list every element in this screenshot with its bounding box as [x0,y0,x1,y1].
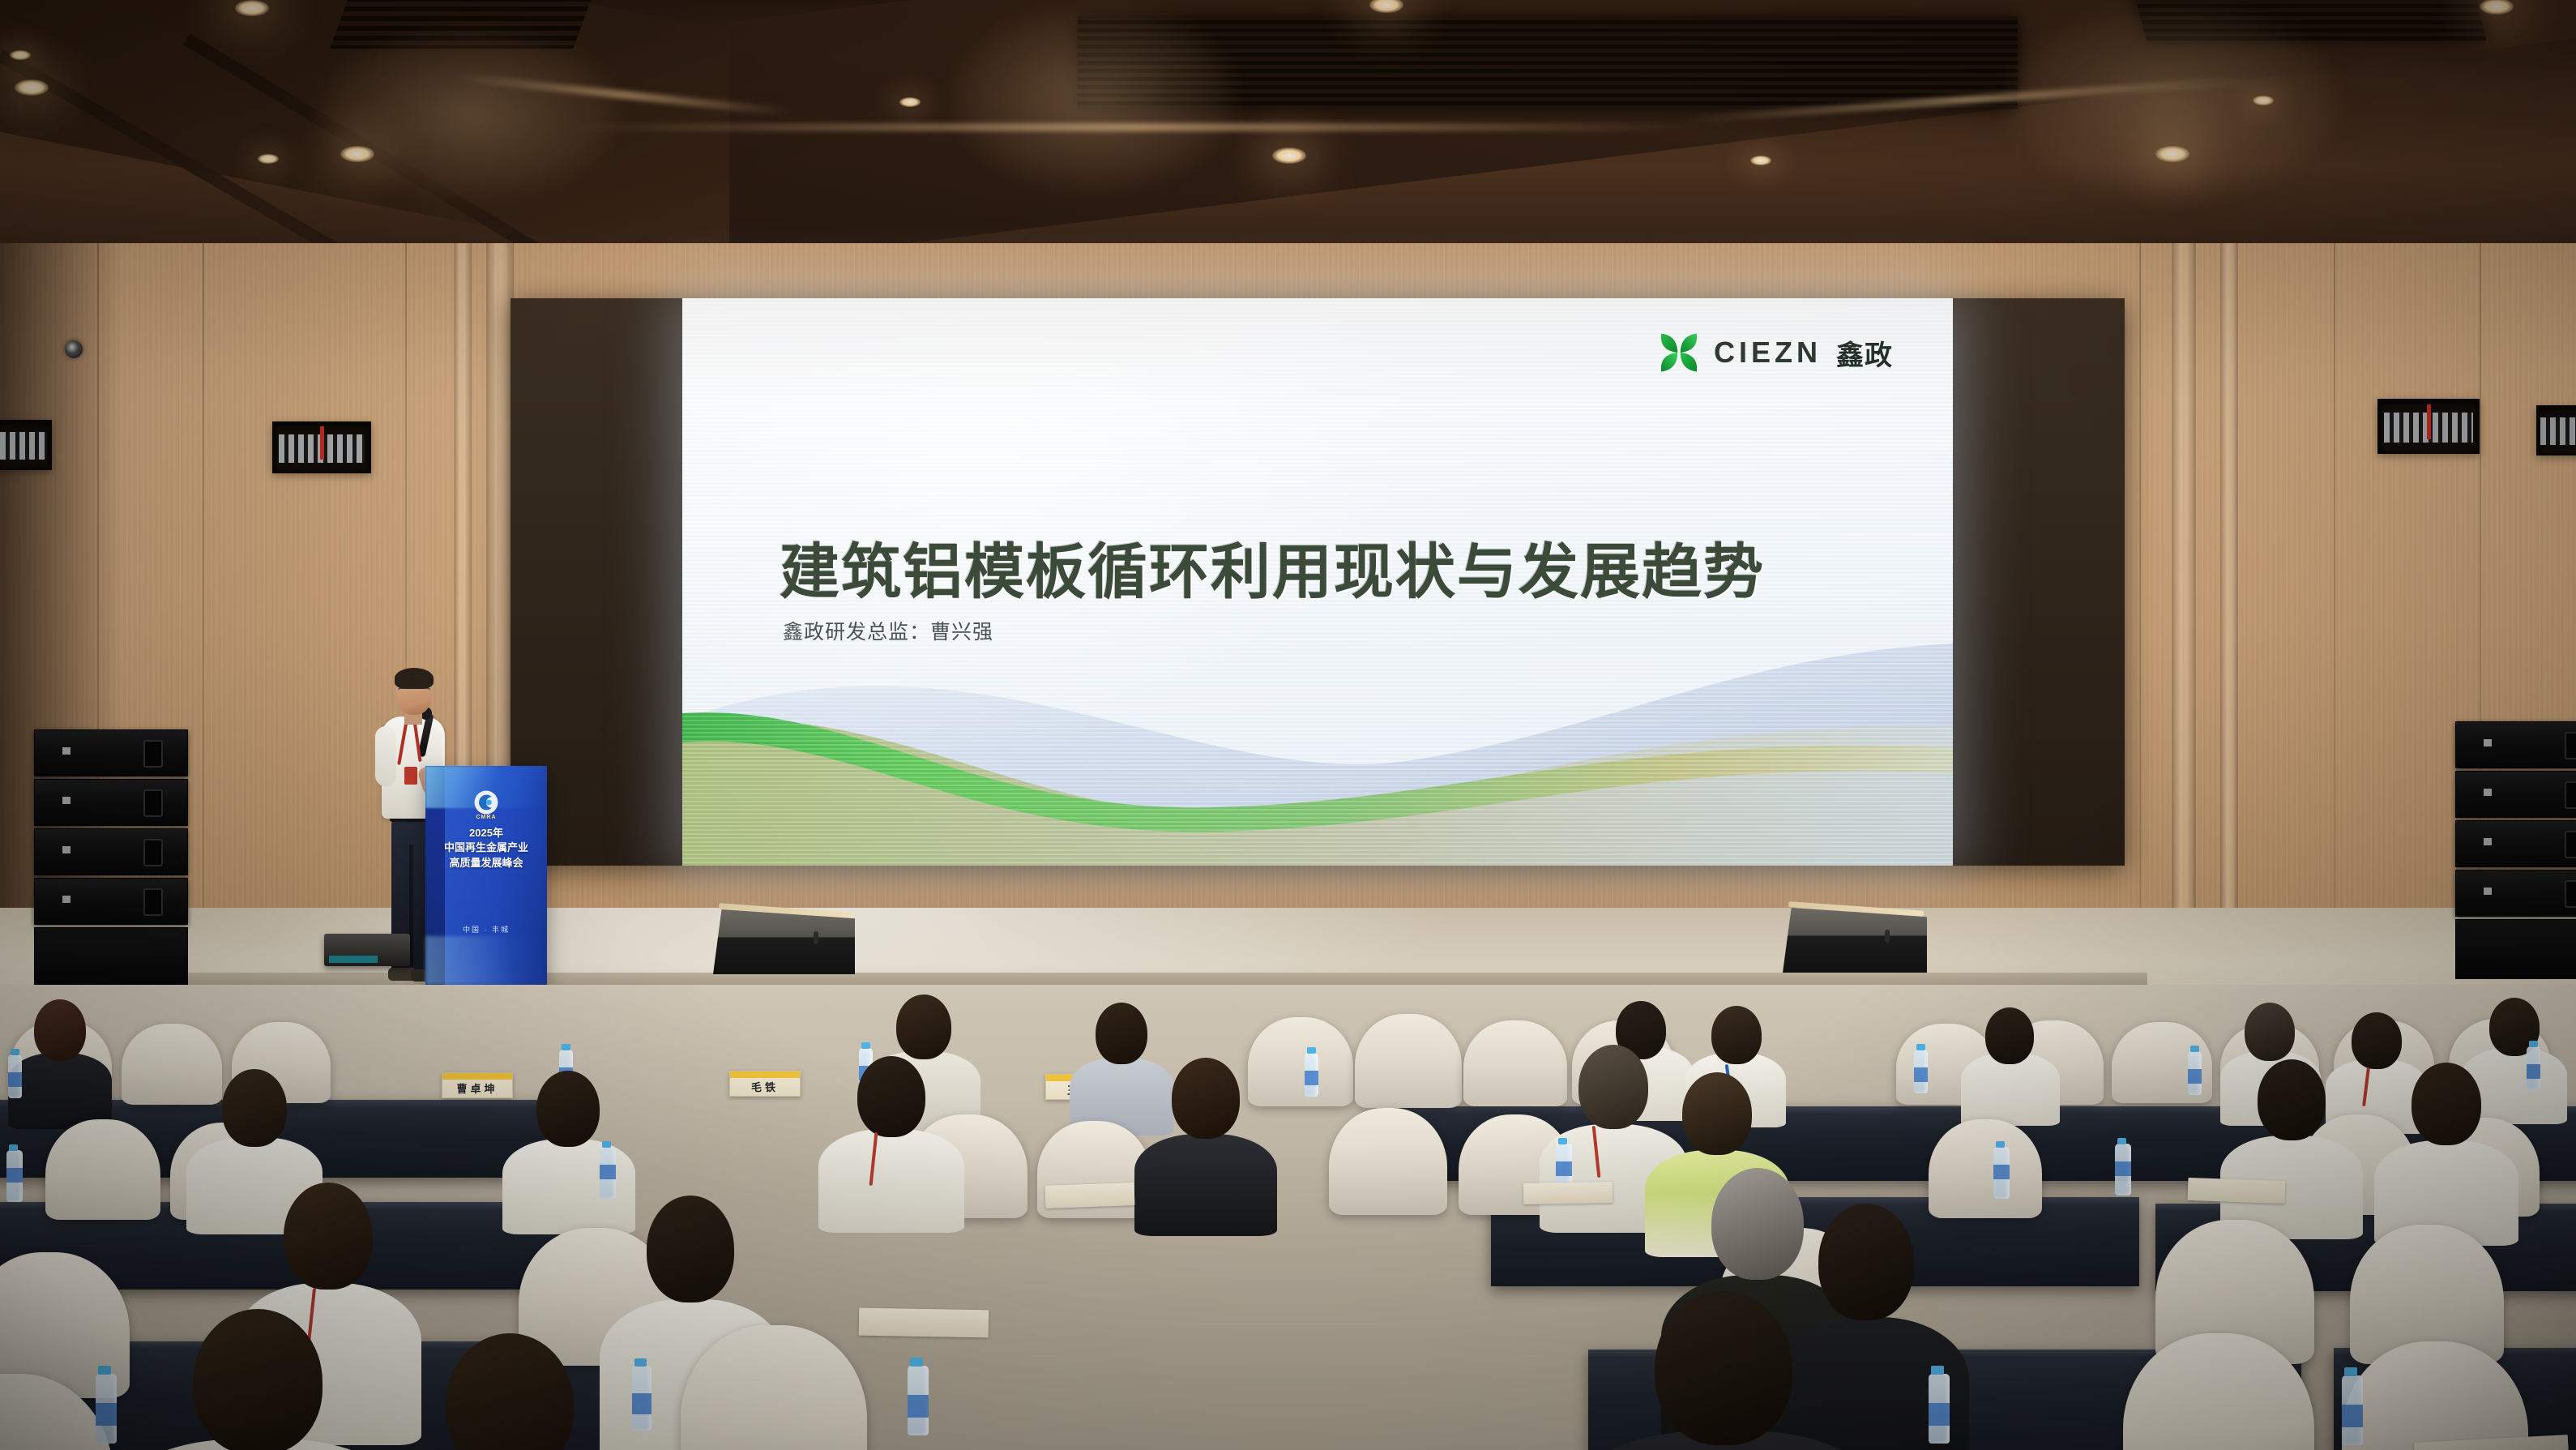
ceiling-downlight [1750,156,1771,165]
speaker-brand-badge [2484,789,2492,796]
attendee-head [1711,1006,1762,1064]
chair [1355,1014,1462,1108]
water-bottle [1305,1053,1318,1097]
wall-niche [0,420,52,470]
wall-pilaster [2172,243,2196,932]
bottle-cap [2344,1367,2357,1376]
attendee [8,996,112,1123]
screen-bezel-right [1953,298,2125,866]
ceiling-downlight [899,97,921,107]
attendee-head [222,1069,287,1147]
bottle-label [2115,1161,2131,1176]
floor-equipment-box [324,934,410,966]
attendee-torso [818,1129,964,1233]
attendee-foreground [1580,1291,1872,1450]
bottle-label [2527,1064,2540,1079]
wall-niche-slats [0,432,47,460]
bottle-label [1929,1403,1950,1426]
stage-monitor-body [713,909,855,974]
water-bottle [2527,1046,2540,1090]
line-array-module [2455,820,2576,867]
speaker-port [2565,880,2576,908]
speaker-port [143,888,163,916]
speaker-port [143,839,163,866]
speaker-brand-badge [2484,888,2492,895]
water-bottle [1993,1147,2010,1199]
water-bottle [2115,1144,2131,1196]
subwoofer-cabinet [34,927,188,987]
slide-title: 建筑铝模板循环利用现状与发展趋势 [780,524,1765,610]
bottle-cap [98,1366,111,1375]
conference-hall-photo: CIEZN 鑫政 建筑铝模板循环利用现状与发展趋势 鑫政研发总监：曹兴强 [0,0,2576,1450]
chair [1329,1108,1447,1215]
ceiling-light-wash [956,8,1232,186]
bottle-label [96,1403,117,1426]
water-bottle [1914,1050,1928,1093]
slide-subtitle: 鑫政研发总监：曹兴强 [783,616,993,645]
ceiling-downlight [10,50,31,60]
slide-logo: CIEZN 鑫政 [1655,329,1893,376]
podium: CMRA 2025年 中国再生金属产业 高质量发展峰会 中国 · 丰城 [425,766,547,985]
bottle-cap [562,1044,570,1050]
speaker-brand-badge [62,747,70,755]
stage-monitor-wedge-right [1783,908,1927,973]
attendee-head [446,1333,574,1450]
bottle-cap [634,1358,647,1367]
presentation-screen: CIEZN 鑫政 建筑铝模板循环利用现状与发展趋势 鑫政研发总监：曹兴强 [682,298,1953,866]
attendee-head [1682,1072,1752,1155]
security-camera-icon [65,340,83,358]
line-array-module [34,779,188,826]
speaker-port [143,789,163,817]
podium-city: 中国 · 丰城 [463,924,510,935]
ciezn-pinwheel-logo-icon [1655,329,1702,376]
bottle-label [8,1072,22,1087]
line-array-module [2455,771,2576,818]
ceiling-downlight [340,146,374,162]
bottle-label [632,1393,651,1414]
water-bottle [632,1366,651,1431]
bottle-label [1993,1165,2010,1179]
wall-niche-red-marker [320,426,324,460]
bottle-label [1556,1161,1572,1176]
water-bottle [600,1147,616,1199]
bottle-label [1914,1067,1928,1082]
bottle-cap [2117,1138,2126,1144]
podium-bottom-wave-graphic [425,936,547,985]
notepad [2188,1178,2286,1204]
presenter-arm-left [375,726,396,786]
attendee-head [1172,1058,1240,1139]
speaker-brand-badge [62,896,70,903]
ceiling-light-wash [2010,8,2334,195]
water-bottle [8,1054,22,1098]
attendee-head [1578,1045,1648,1129]
attendee-head [34,999,86,1061]
notepad [1045,1183,1135,1208]
stage-monitor-handle-slot [1885,930,1890,943]
podium-banner-text: 2025年 中国再生金属产业 高质量发展峰会 [433,826,540,870]
ceiling-light-wash [324,32,616,195]
slide-wave-graphic [682,622,1953,866]
bottle-cap [1307,1047,1316,1054]
speaker-brand-badge [2484,739,2492,746]
wall-panel-seam [203,243,204,932]
bottle-cap [2190,1046,2199,1052]
ceiling-downlight [2155,146,2189,162]
speaker-port [2565,831,2576,858]
bottle-cap [910,1358,923,1367]
line-array-module [2455,870,2576,917]
attendee [1134,1058,1277,1231]
wall-niche [272,421,371,473]
stage-monitor-wedge-left [713,909,855,974]
bottle-cap [2529,1041,2538,1047]
stage-monitor-body [1783,908,1927,973]
wall-panel-seam [2334,243,2335,932]
presenter-glasses [398,687,430,696]
water-bottle [6,1150,23,1202]
name-card-text: 曹卓坤 [456,1080,498,1096]
speaker-brand-badge [2484,838,2492,845]
wall-niche [2377,399,2480,454]
slide-logo-wordmark: CIEZN [1714,336,1822,370]
name-card: 毛铁 [729,1071,801,1097]
speaker-port [2565,781,2576,809]
name-card-text: 毛铁 [751,1079,779,1094]
wall-niche-slats [2540,417,2576,445]
water-bottle [2188,1051,2202,1095]
audience-area: 曹卓坤 毛铁 王强 [0,985,2576,1450]
line-array-speaker-stack-left [34,729,188,987]
speaker-brand-badge [62,797,70,804]
attendee [2374,1063,2518,1241]
attendee [1961,1003,2060,1121]
attendee-head [1096,1003,1147,1064]
ceiling-downlight [2253,96,2274,105]
wall-niche [2536,405,2576,456]
bottle-label [2188,1069,2202,1084]
notepad [859,1308,989,1338]
attendee-head [896,994,951,1059]
bottle-cap [11,1049,19,1055]
presenter-badge [404,767,417,785]
water-bottle [908,1366,929,1435]
chair [45,1119,160,1220]
line-array-module [34,729,188,776]
attendee [818,1054,964,1228]
led-screen-frame: CIEZN 鑫政 建筑铝模板循环利用现状与发展趋势 鑫政研发总监：曹兴强 [511,298,2125,866]
water-bottle [96,1374,117,1444]
attendee-head [193,1309,323,1450]
attendee-head [1985,1007,2034,1064]
attendee-foreground [122,1309,397,1450]
water-bottle [2342,1375,2363,1445]
line-array-module [34,828,188,875]
attendee-head [2245,1003,2295,1061]
speaker-brand-badge [62,846,70,853]
wall-pilaster [2220,243,2238,932]
attendee-head [284,1183,373,1290]
bottle-label [1305,1071,1318,1085]
attendee-torso [1134,1134,1277,1236]
attendee-foreground [381,1333,640,1450]
ceiling [0,0,2576,267]
presenter-hair [395,668,434,689]
ceiling-downlight [258,154,279,164]
stage-monitor-handle-slot [814,931,818,944]
speaker-port [2565,732,2576,759]
podium-line2: 高质量发展峰会 [433,856,540,870]
subwoofer-cabinet [2455,919,2576,979]
wall-niche-red-marker [2427,404,2431,439]
ceiling-downlight [235,0,269,16]
podium-line1: 中国再生金属产业 [433,840,540,855]
wall-panel-seam [2139,243,2141,932]
bottle-cap [861,1042,870,1049]
attendee-head [647,1196,734,1302]
cmra-logo-text: CMRA [476,815,497,820]
bottle-cap [1558,1138,1567,1144]
bottle-label [908,1395,929,1418]
attendee-head [536,1071,600,1147]
attendee-head [2258,1059,2326,1140]
bottle-cap [602,1141,611,1148]
speaker-port [143,740,163,768]
ceiling-downlight [15,79,49,96]
podium-year: 2025年 [433,826,540,840]
equipment-box-accent [329,956,378,963]
attendee-torso [8,1053,112,1129]
slide-logo-chinese-name: 鑫政 [1836,333,1893,373]
attendee-head [1655,1291,1792,1445]
bottle-label [6,1168,23,1183]
bottle-cap [1996,1141,2005,1148]
line-array-module [34,878,188,925]
name-card-strip [730,1071,800,1078]
attendee-head [2412,1063,2481,1145]
line-array-speaker-stack-right [2455,721,2576,979]
ceiling-downlight [1272,148,1306,164]
attendee [2220,1059,2363,1234]
attendee-head [857,1056,925,1137]
bottle-cap [1916,1044,1925,1050]
line-array-module [2455,721,2576,768]
bottle-label [600,1165,616,1179]
bottle-cap [1931,1366,1944,1375]
notepad [1523,1182,1613,1204]
bottle-cap [9,1144,18,1151]
bottle-label [2342,1405,2363,1427]
cmra-logo-icon [472,789,500,816]
water-bottle [1929,1374,1950,1444]
